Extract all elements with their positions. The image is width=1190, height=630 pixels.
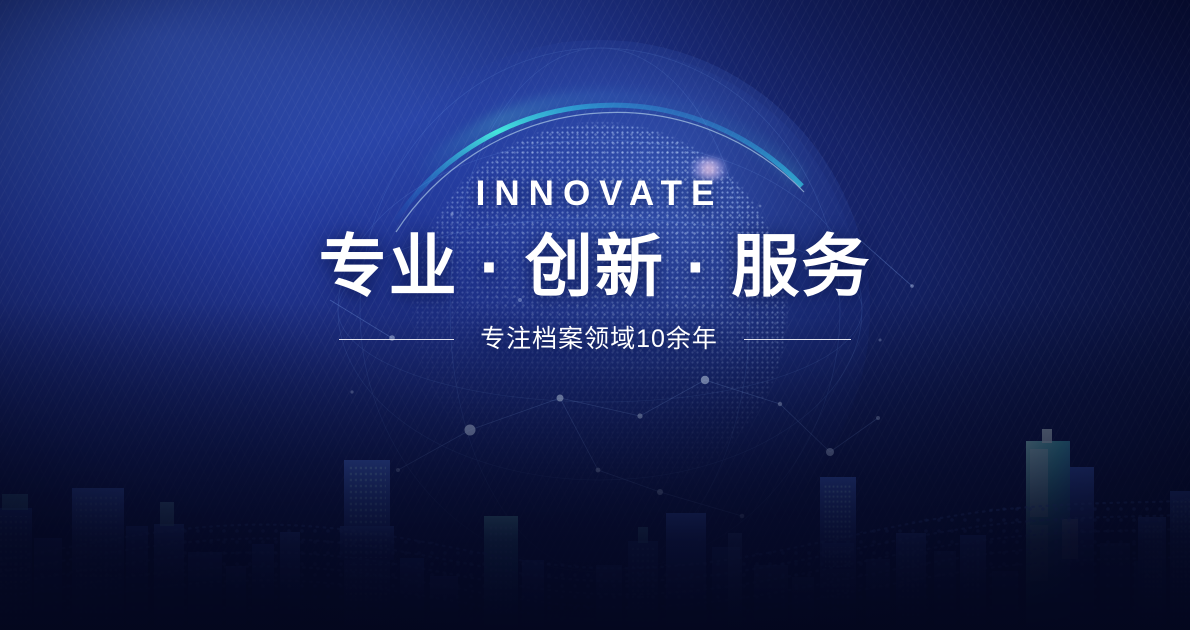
subtitle-text: 专注档案领域10余年 <box>480 327 718 352</box>
hero-banner: INNOVATE 专业 · 创新 · 服务 专注档案领域10余年 <box>0 0 1190 630</box>
divider-rule-left <box>339 339 454 340</box>
subtitle-row: 专注档案领域10余年 <box>0 327 1190 352</box>
divider-rule-right <box>744 339 851 340</box>
hero-text-block: INNOVATE 专业 · 创新 · 服务 专注档案领域10余年 <box>0 176 1190 352</box>
page-title: 专业 · 创新 · 服务 <box>0 229 1190 305</box>
eyebrow-text: INNOVATE <box>0 176 1190 211</box>
